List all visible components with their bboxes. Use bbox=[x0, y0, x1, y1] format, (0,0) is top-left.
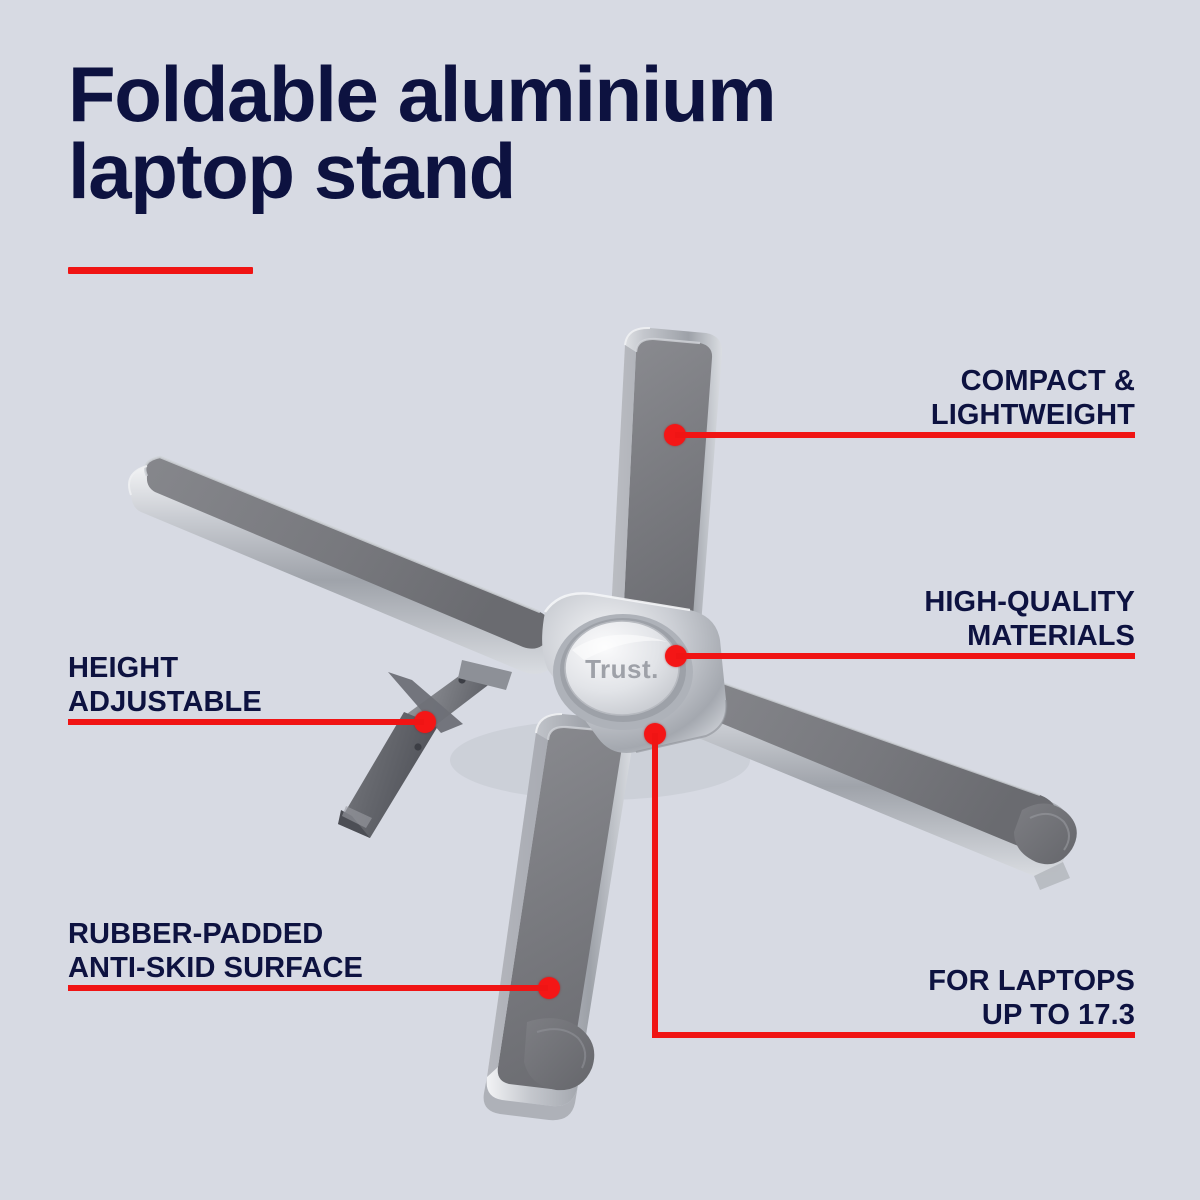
callout-label-for-laptops: FOR LAPTOPS UP TO 17.3 bbox=[735, 965, 1135, 1033]
callout-label-compact-lightweight: COMPACT & LIGHTWEIGHT bbox=[735, 365, 1135, 433]
title-accent-rule bbox=[68, 267, 253, 274]
arm-upper-right bbox=[610, 328, 722, 656]
callout-line-rubber-padded bbox=[68, 985, 548, 991]
product-infographic: Foldable aluminium laptop stand bbox=[0, 0, 1200, 1200]
callout-line-compact-lightweight bbox=[675, 432, 1135, 438]
callout-line-for-laptops-horizontal bbox=[652, 1032, 1135, 1038]
callout-label-height-adjustable: HEIGHT ADJUSTABLE bbox=[68, 652, 488, 720]
page-title: Foldable aluminium laptop stand bbox=[68, 56, 1048, 210]
callout-label-rubber-padded: RUBBER-PADDED ANTI-SKID SURFACE bbox=[68, 918, 588, 986]
brand-logo-trust: Trust. bbox=[585, 654, 659, 684]
callout-line-height-adjustable bbox=[68, 719, 424, 725]
callout-line-high-quality-materials bbox=[676, 653, 1135, 659]
callout-line-for-laptops-vertical bbox=[652, 733, 658, 1038]
center-hub: Trust. bbox=[542, 593, 726, 753]
callout-label-high-quality-materials: HIGH-QUALITY MATERIALS bbox=[735, 586, 1135, 654]
arm-lower-right bbox=[666, 675, 1077, 890]
arm-upper-left bbox=[129, 457, 559, 674]
